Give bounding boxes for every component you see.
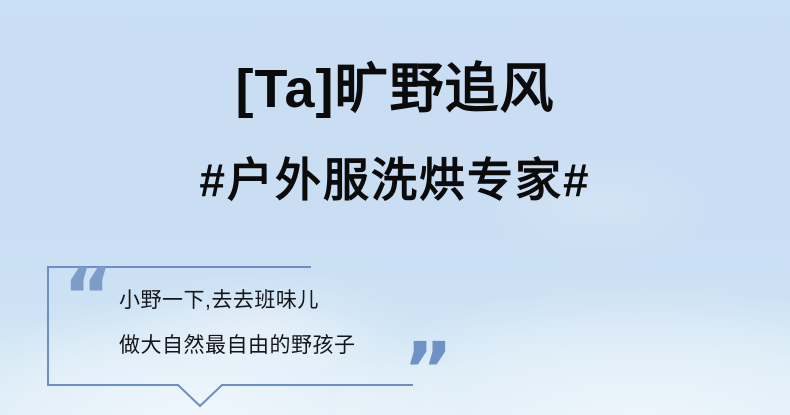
quote-line-2: 做大自然最自由的野孩子 [119, 323, 419, 368]
quote-line-1: 小野一下,去去班味儿 [119, 278, 419, 323]
quote-text: 小野一下,去去班味儿 做大自然最自由的野孩子 [119, 278, 419, 368]
page-subtitle: #户外服洗烘专家# [0, 152, 790, 208]
page-title: [Ta]旷野追风 [0, 58, 790, 120]
quote-callout: “ ” 小野一下,去去班味儿 做大自然最自由的野孩子 [47, 266, 413, 386]
promo-banner: [Ta]旷野追风 #户外服洗烘专家# “ ” 小野一下,去去班味儿 做大自然最自… [0, 0, 790, 415]
quote-open-icon: “ [63, 258, 113, 334]
